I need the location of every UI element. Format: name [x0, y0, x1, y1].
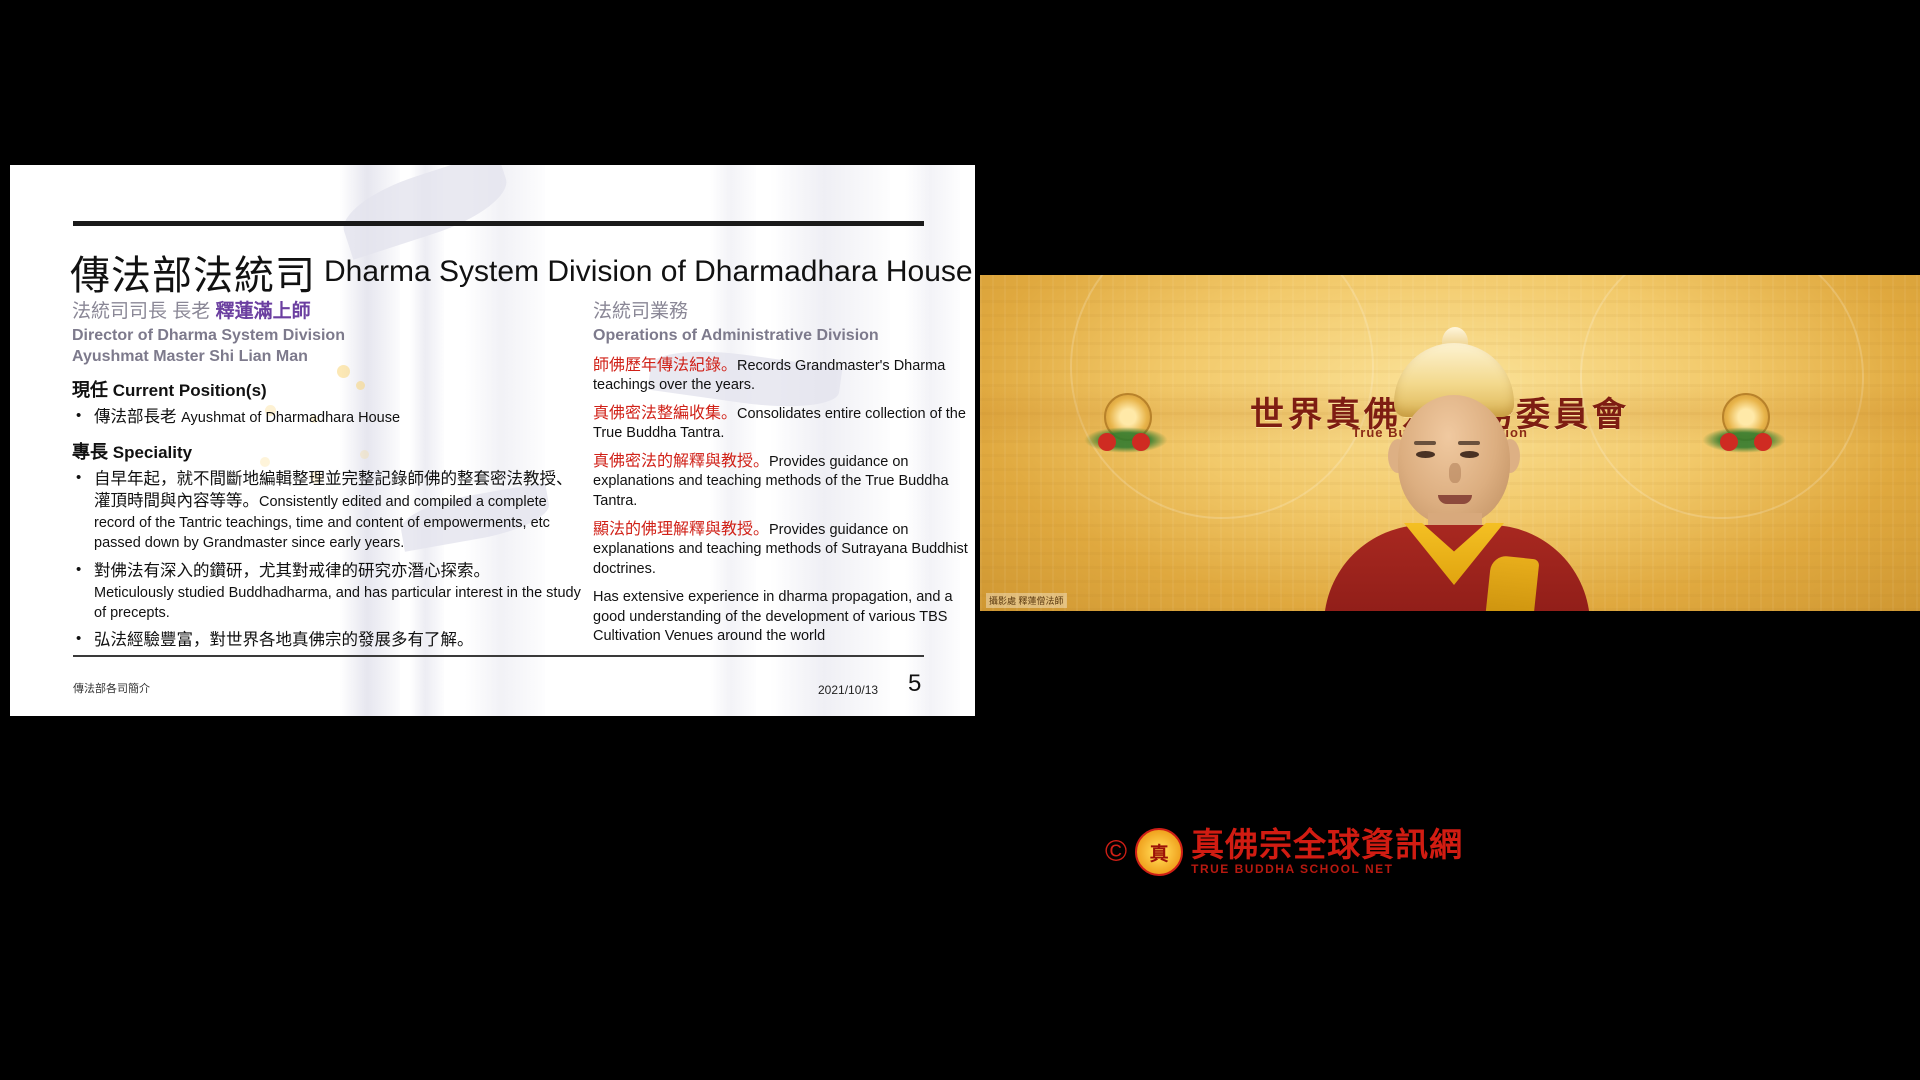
list-item-en: Ayushmat of Dharmadhara House — [181, 410, 400, 426]
seal-icon: 真 — [1135, 828, 1183, 876]
operations-closing-note: Has extensive experience in dharma propa… — [593, 588, 975, 647]
footer-label: 傳法部各司簡介 — [73, 680, 150, 696]
list-item: 對佛法有深入的鑽研，尤其對戒律的研究亦潛心探索。Meticulously stu… — [72, 561, 587, 624]
speciality-list: 自早年起，就不間斷地編輯整理並完整記錄師佛的整套密法教授、灌頂時間與內容等等。C… — [72, 469, 587, 652]
list-item: 傳法部長老 Ayushmat of Dharmadhara House — [72, 407, 587, 429]
list-item-cjk: 對佛法有深入的鑽研，尤其對戒律的研究亦潛心探索。 — [94, 562, 490, 580]
site-watermark: © 真 真佛宗全球資訊網 TRUE BUDDHA SCHOOL NET — [1105, 828, 1463, 876]
video-feed[interactable]: 世界真佛宗宗務委員會 True Buddha Foundation — [980, 275, 1920, 611]
copyright-icon: © — [1105, 837, 1127, 867]
operations-item: 師佛歷年傳法紀錄。Records Grandmaster's Dharma te… — [593, 355, 975, 396]
left-column: 法統司司長 長老 釋蓮滿上師 Director of Dharma System… — [72, 300, 587, 659]
slide-title-en: Dharma System Division of Dharmadhara Ho… — [324, 255, 973, 288]
seal-glyph: 真 — [1150, 839, 1169, 866]
current-position-list: 傳法部長老 Ayushmat of Dharmadhara House — [72, 407, 587, 429]
eyebrow-right — [1458, 441, 1480, 445]
list-item-cjk: 弘法經驗豐富，對世界各地真佛宗的發展多有了解。 — [94, 631, 474, 649]
flower-icon — [1720, 433, 1738, 451]
footer-divider — [73, 655, 924, 657]
flower-icon — [1098, 433, 1116, 451]
operations-item: 顯法的佛理解釋與教授。Provides guidance on explanat… — [593, 519, 975, 580]
nose — [1449, 463, 1461, 483]
flower-icon — [1754, 433, 1772, 451]
watermark-text: 真佛宗全球資訊網 TRUE BUDDHA SCHOOL NET — [1191, 828, 1463, 875]
slide-title-cjk: 傳法部法統司 — [70, 254, 316, 298]
operations-item-cjk: 顯法的佛理解釋與教授。 — [593, 521, 769, 538]
leaf-spray-left — [1084, 427, 1168, 453]
screen-root: 傳法部法統司Dharma System Division of Dharmadh… — [0, 0, 1920, 1080]
list-item-en: Meticulously studied Buddhadharma, and h… — [94, 585, 581, 621]
gold-shoulder-sash — [1484, 555, 1539, 611]
operations-item-cjk: 真佛密法的解釋與教授。 — [593, 453, 769, 470]
eyebrow-left — [1414, 441, 1436, 445]
mouth — [1438, 495, 1472, 504]
speaker-figure — [1332, 347, 1582, 611]
list-item-cjk: 傳法部長老 — [94, 408, 181, 426]
watermark-cjk: 真佛宗全球資訊網 — [1191, 828, 1463, 863]
director-master-name-cjk: 釋蓮滿上師 — [216, 301, 311, 322]
director-name-cjk: 法統司司長 長老 釋蓮滿上師 — [72, 300, 587, 324]
director-name-en: Ayushmat Master Shi Lian Man — [72, 347, 587, 368]
slide-title: 傳法部法統司Dharma System Division of Dharmadh… — [70, 243, 973, 301]
section-current-position-en: Current Position(s) — [113, 381, 267, 400]
presentation-slide: 傳法部法統司Dharma System Division of Dharmadh… — [10, 165, 975, 716]
operations-item-cjk: 真佛密法整編收集。 — [593, 405, 737, 422]
eye-left — [1416, 451, 1435, 458]
section-speciality-cjk: 專長 — [72, 442, 108, 462]
operations-item-cjk: 師佛歷年傳法紀錄。 — [593, 357, 737, 374]
title-divider-top — [73, 221, 924, 226]
section-speciality: 專長 Speciality — [72, 438, 587, 464]
section-speciality-en: Speciality — [113, 443, 192, 462]
list-item: 自早年起，就不間斷地編輯整理並完整記錄師佛的整套密法教授、灌頂時間與內容等等。C… — [72, 469, 587, 553]
operations-heading-en: Operations of Administrative Division — [593, 326, 975, 347]
flower-icon — [1132, 433, 1150, 451]
footer-page-number: 5 — [908, 670, 921, 698]
eye-right — [1460, 451, 1479, 458]
section-current-position: 現任 Current Position(s) — [72, 376, 587, 402]
leaf-spray-right — [1702, 427, 1786, 453]
section-current-position-cjk: 現任 — [72, 380, 108, 400]
list-item: 弘法經驗豐富，對世界各地真佛宗的發展多有了解。 — [72, 630, 587, 652]
director-title-cjk: 法統司司長 長老 — [72, 301, 216, 322]
operations-heading-cjk: 法統司業務 — [593, 300, 975, 324]
right-column: 法統司業務 Operations of Administrative Divis… — [593, 300, 975, 654]
watermark-en: TRUE BUDDHA SCHOOL NET — [1191, 863, 1463, 876]
footer-date: 2021/10/13 — [818, 683, 878, 697]
operations-item: 真佛密法整編收集。Consolidates entire collection … — [593, 403, 975, 444]
head — [1398, 395, 1510, 525]
operations-item: 真佛密法的解釋與教授。Provides guidance on explanat… — [593, 451, 975, 512]
video-corner-credit: 攝影處 釋蓮僧法師 — [986, 593, 1067, 608]
director-title-en: Director of Dharma System Division — [72, 326, 587, 347]
